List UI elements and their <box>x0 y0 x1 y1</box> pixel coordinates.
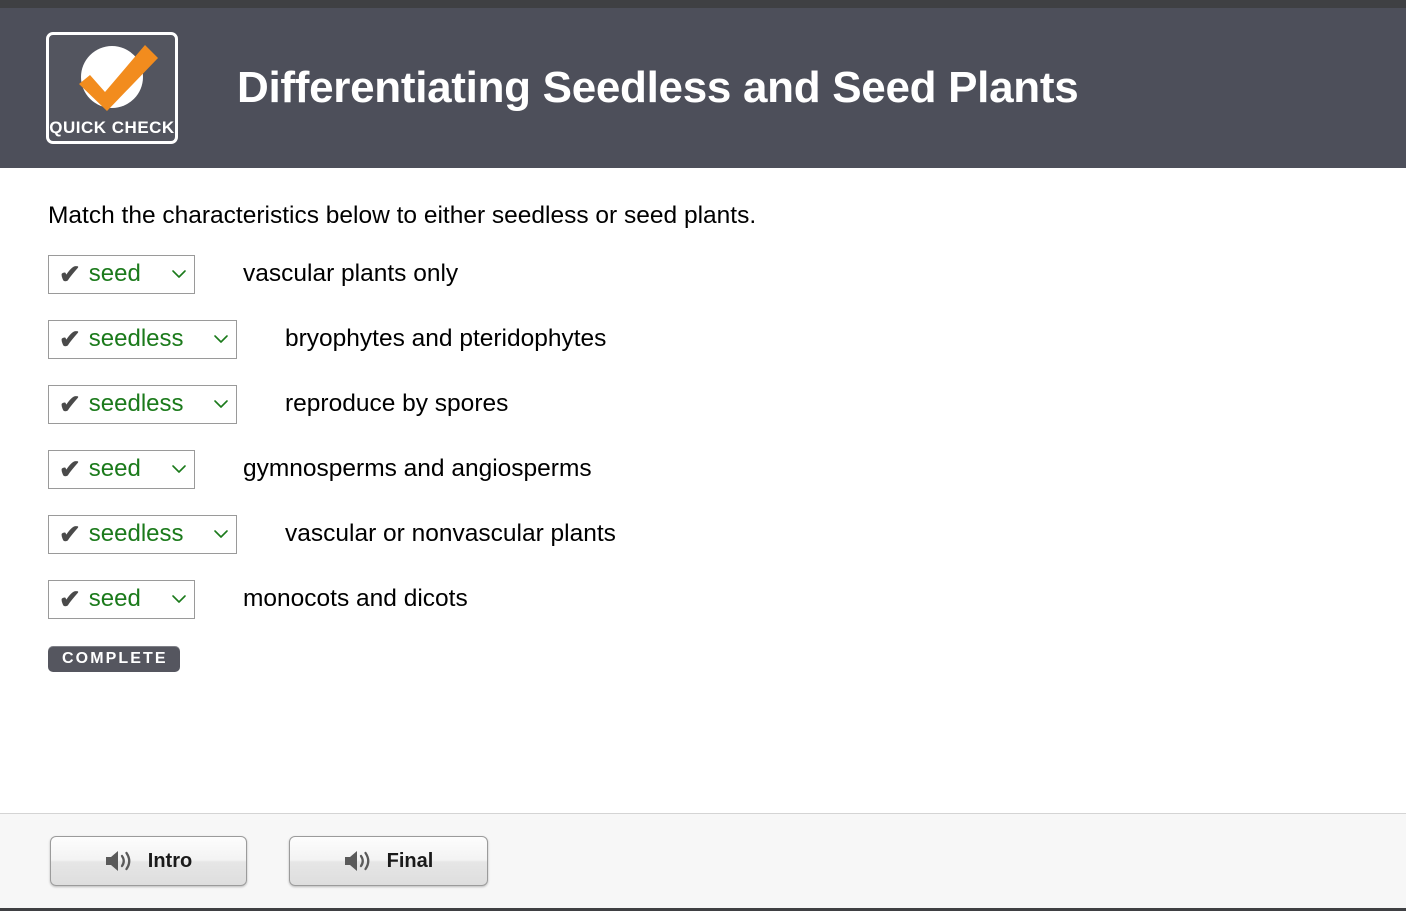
match-rows-list: ✔ seed vascular plants only ✔ seedless b… <box>48 254 1406 620</box>
top-accent-strip <box>0 0 1406 8</box>
check-icon: ✔ <box>59 521 81 547</box>
chevron-down-icon <box>171 594 187 604</box>
answer-select-0[interactable]: ✔ seed <box>48 255 195 294</box>
answer-select-value-2: seedless <box>89 392 209 416</box>
match-row: ✔ seedless vascular or nonvascular plant… <box>48 514 1406 555</box>
speaker-icon <box>344 848 374 874</box>
logo-label: QUICK CHECK <box>49 119 175 136</box>
instruction-text: Match the characteristics below to eithe… <box>48 168 1406 229</box>
intro-audio-button[interactable]: Intro <box>50 836 247 886</box>
speaker-icon <box>105 848 135 874</box>
answer-select-value-1: seedless <box>89 327 209 351</box>
chevron-down-icon <box>213 399 229 409</box>
page-footer: Intro Final <box>0 813 1406 911</box>
match-row: ✔ seed gymnosperms and angiosperms <box>48 449 1406 490</box>
answer-select-value-0: seed <box>89 262 167 286</box>
page-header: QUICK CHECK Differentiating Seedless and… <box>0 8 1406 168</box>
characteristic-label-4: vascular or nonvascular plants <box>285 520 616 548</box>
page-title: Differentiating Seedless and Seed Plants <box>237 63 1078 113</box>
quick-check-logo: QUICK CHECK <box>46 32 178 144</box>
main-content: Match the characteristics below to eithe… <box>0 168 1406 813</box>
answer-select-value-3: seed <box>89 457 167 481</box>
match-row: ✔ seedless bryophytes and pteridophytes <box>48 319 1406 360</box>
match-row: ✔ seed monocots and dicots <box>48 579 1406 620</box>
answer-select-3[interactable]: ✔ seed <box>48 450 195 489</box>
answer-select-4[interactable]: ✔ seedless <box>48 515 237 554</box>
final-audio-button[interactable]: Final <box>289 836 488 886</box>
answer-select-value-5: seed <box>89 587 167 611</box>
answer-select-1[interactable]: ✔ seedless <box>48 320 237 359</box>
check-icon: ✔ <box>59 456 81 482</box>
characteristic-label-5: monocots and dicots <box>243 585 468 613</box>
characteristic-label-2: reproduce by spores <box>285 390 508 418</box>
answer-select-5[interactable]: ✔ seed <box>48 580 195 619</box>
final-audio-label: Final <box>387 851 434 871</box>
check-icon: ✔ <box>59 391 81 417</box>
characteristic-label-3: gymnosperms and angiosperms <box>243 455 592 483</box>
status-badge: COMPLETE <box>48 646 180 672</box>
characteristic-label-1: bryophytes and pteridophytes <box>285 325 606 353</box>
chevron-down-icon <box>213 529 229 539</box>
intro-audio-label: Intro <box>148 851 192 871</box>
check-icon: ✔ <box>59 586 81 612</box>
chevron-down-icon <box>213 334 229 344</box>
match-row: ✔ seedless reproduce by spores <box>48 384 1406 425</box>
chevron-down-icon <box>171 269 187 279</box>
answer-select-2[interactable]: ✔ seedless <box>48 385 237 424</box>
match-row: ✔ seed vascular plants only <box>48 254 1406 295</box>
orange-checkmark-icon <box>49 37 175 111</box>
check-icon: ✔ <box>59 326 81 352</box>
chevron-down-icon <box>171 464 187 474</box>
check-icon: ✔ <box>59 261 81 287</box>
characteristic-label-0: vascular plants only <box>243 260 458 288</box>
answer-select-value-4: seedless <box>89 522 209 546</box>
